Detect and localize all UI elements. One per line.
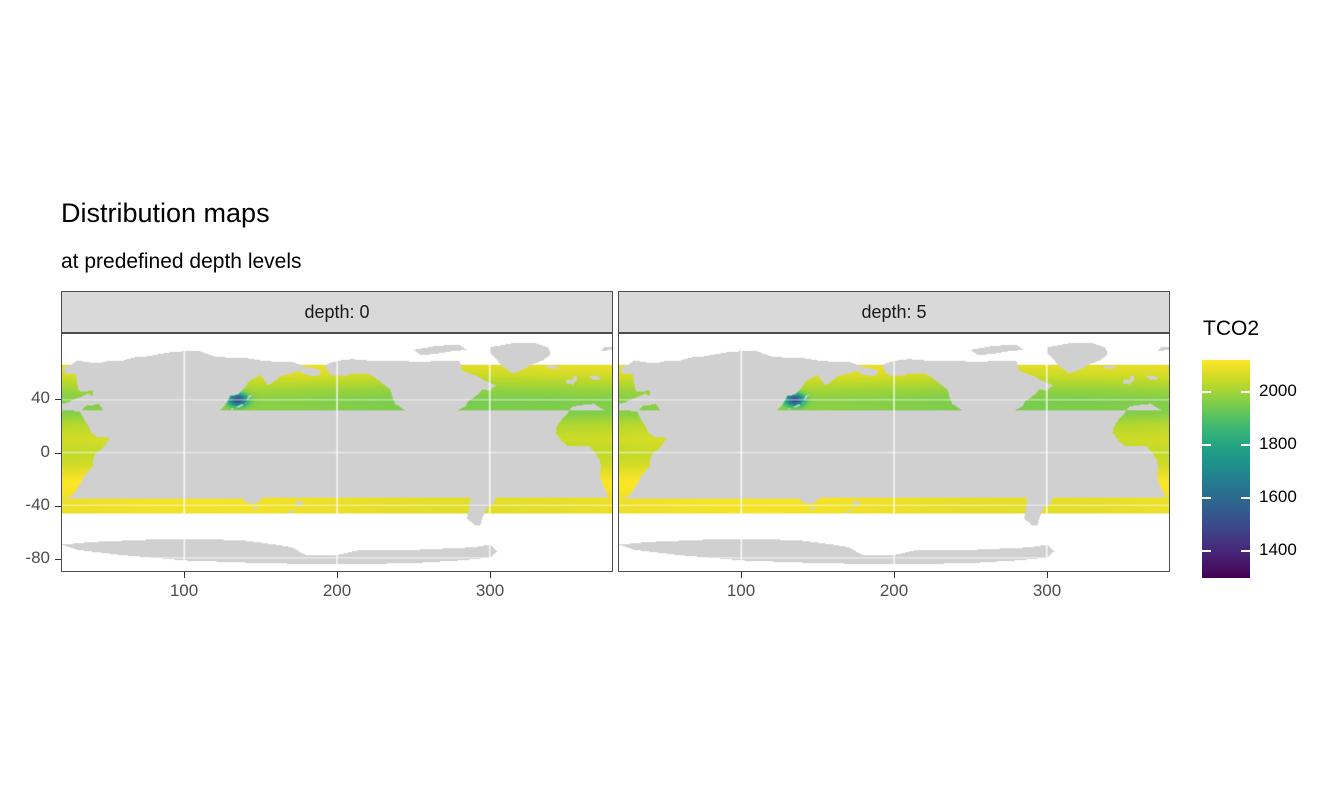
y-tick-mark bbox=[55, 399, 61, 400]
map-raster bbox=[62, 334, 612, 571]
page-title: Distribution maps bbox=[61, 196, 270, 230]
x-tick-mark bbox=[1047, 572, 1048, 578]
x-tick-label: 200 bbox=[297, 581, 377, 601]
y-tick-label: -80 bbox=[0, 548, 50, 568]
x-tick-mark bbox=[490, 572, 491, 578]
map-panel bbox=[61, 333, 613, 572]
y-tick-label: -40 bbox=[0, 495, 50, 515]
y-tick-label: 40 bbox=[0, 388, 50, 408]
legend-tick-mark bbox=[1202, 497, 1211, 499]
legend-title: TCO2 bbox=[1203, 317, 1259, 341]
x-tick-label: 100 bbox=[701, 581, 781, 601]
x-tick-label: 100 bbox=[144, 581, 224, 601]
x-tick-mark bbox=[184, 572, 185, 578]
page-subtitle: at predefined depth levels bbox=[61, 248, 302, 275]
facet-strip-label: depth: 0 bbox=[304, 302, 369, 323]
legend-tick-mark bbox=[1202, 391, 1211, 393]
legend-tick-mark bbox=[1202, 444, 1211, 446]
legend-tick-label: 2000 bbox=[1259, 381, 1297, 401]
y-tick-mark bbox=[55, 559, 61, 560]
x-tick-label: 300 bbox=[450, 581, 530, 601]
legend-tick-mark bbox=[1202, 550, 1211, 552]
legend-tick-label: 1600 bbox=[1259, 487, 1297, 507]
legend-tick-label: 1400 bbox=[1259, 540, 1297, 560]
x-tick-label: 300 bbox=[1007, 581, 1087, 601]
map-raster bbox=[619, 334, 1169, 571]
x-tick-mark bbox=[741, 572, 742, 578]
legend-tick-mark bbox=[1241, 391, 1250, 393]
legend-tick-label: 1800 bbox=[1259, 434, 1297, 454]
x-tick-label: 200 bbox=[854, 581, 934, 601]
x-tick-mark bbox=[337, 572, 338, 578]
y-tick-mark bbox=[55, 506, 61, 507]
y-tick-label: 0 bbox=[0, 442, 50, 462]
facet-strip: depth: 0 bbox=[61, 291, 613, 333]
x-tick-mark bbox=[894, 572, 895, 578]
legend-tick-mark bbox=[1241, 550, 1250, 552]
facet-strip-label: depth: 5 bbox=[861, 302, 926, 323]
legend-tick-mark bbox=[1241, 444, 1250, 446]
legend-tick-mark bbox=[1241, 497, 1250, 499]
y-tick-mark bbox=[55, 453, 61, 454]
facet-strip: depth: 5 bbox=[618, 291, 1170, 333]
map-panel bbox=[618, 333, 1170, 572]
